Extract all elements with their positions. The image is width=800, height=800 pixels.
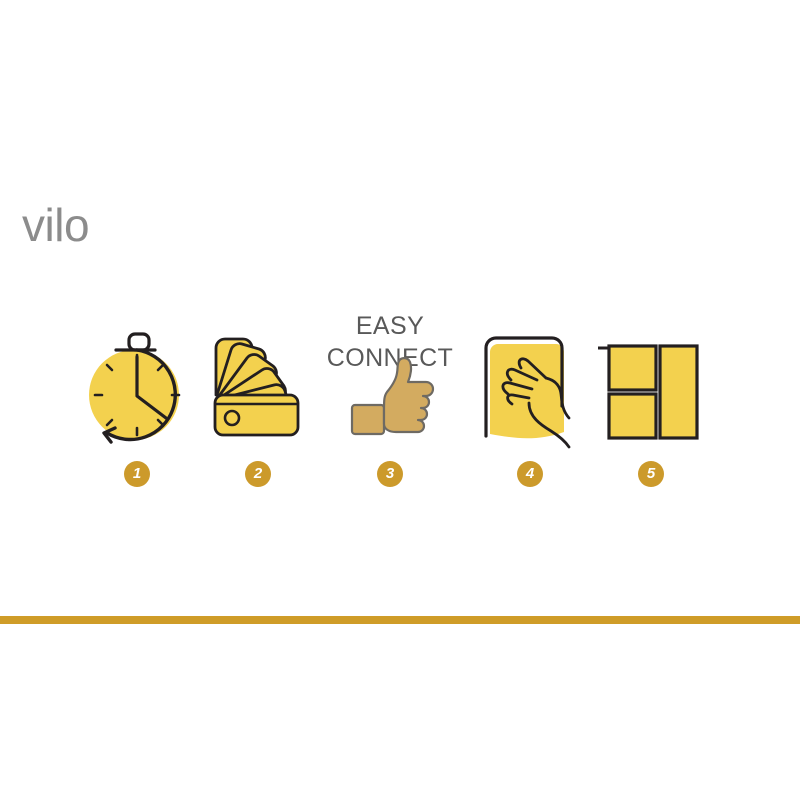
- step-badge-1: 1: [124, 461, 150, 487]
- thumbs-up-icon: EASY CONNECT: [324, 300, 456, 445]
- step-item-5: 5: [585, 300, 717, 500]
- step-item-2: 2: [192, 300, 324, 500]
- footer-gold-rule: [0, 616, 800, 624]
- step-badge-2: 2: [245, 461, 271, 487]
- step-item-1: 1: [71, 300, 203, 500]
- wall-panels-icon: [585, 300, 717, 445]
- step-item-3: EASY CONNECT 3: [324, 300, 456, 500]
- hand-wiping-cloth-icon: [464, 300, 596, 445]
- step-item-4: 4: [464, 300, 596, 500]
- brand-logo-text: vilo: [22, 197, 152, 253]
- step-badge-4: 4: [517, 461, 543, 487]
- steps-row: 1 2 EASY CONNECT: [0, 300, 800, 500]
- stopwatch-icon: [71, 300, 203, 445]
- color-swatch-fan-icon: [192, 300, 324, 445]
- step-badge-3: 3: [377, 461, 403, 487]
- step-badge-5: 5: [638, 461, 664, 487]
- brand-logo: vilo: [22, 197, 152, 253]
